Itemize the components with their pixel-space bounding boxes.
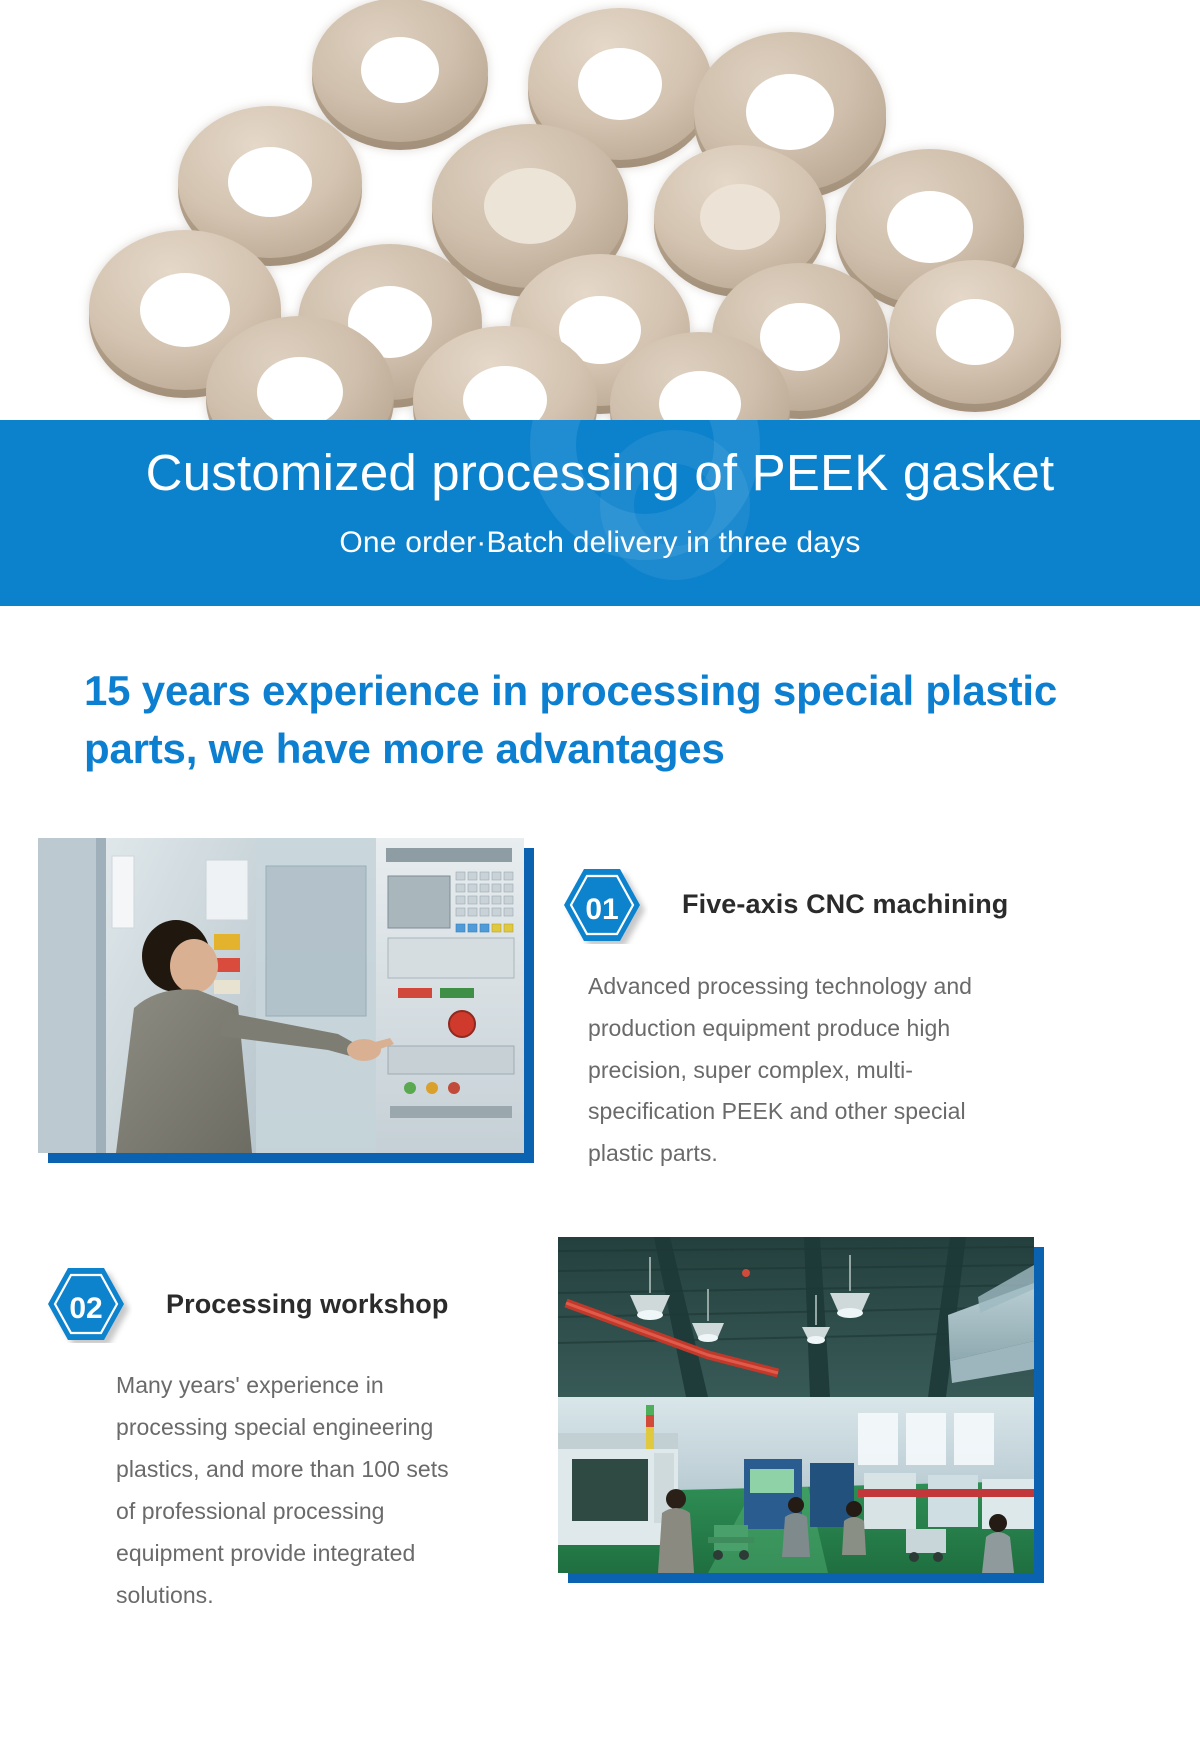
feature-01-text: 01 Five-axis CNC machining Advanced proc… — [524, 838, 1200, 1175]
hexagon-number-badge-icon: 02 — [46, 1265, 132, 1343]
feature-02-title: Processing workshop — [166, 1289, 448, 1320]
hexagon-number-badge-icon: 01 — [562, 866, 648, 944]
hero-banner: Customized processing of PEEK gasket One… — [0, 420, 1200, 606]
peek-gasket-rings-illustration — [0, 0, 1200, 420]
feature-row-01: 01 Five-axis CNC machining Advanced proc… — [0, 838, 1200, 1175]
banner-title: Customized processing of PEEK gasket — [146, 446, 1055, 500]
feature-02-image — [558, 1237, 1034, 1573]
banner-subtitle: One order·Batch delivery in three days — [339, 526, 860, 560]
feature-02-heading-row: 02 Processing workshop — [38, 1265, 536, 1343]
workshop-interior-illustration — [558, 1237, 1034, 1573]
feature-01-body: Advanced processing technology and produ… — [562, 966, 992, 1175]
hexagon-badge-02-number: 02 — [69, 1292, 102, 1325]
cnc-operator-illustration — [38, 838, 524, 1153]
hero-product-image — [0, 0, 1200, 420]
feature-02-photo — [558, 1237, 1034, 1573]
feature-row-02: 02 Processing workshop Many years' exper… — [0, 1237, 1200, 1616]
feature-02-body: Many years' experience in processing spe… — [38, 1365, 458, 1616]
hexagon-badge-01-number: 01 — [585, 893, 618, 926]
product-detail-page: Customized processing of PEEK gasket One… — [0, 0, 1200, 1748]
feature-01-title: Five-axis CNC machining — [682, 889, 1008, 920]
hexagon-badge-02-icon: 02 — [46, 1265, 132, 1343]
hexagon-badge-01-icon: 01 — [562, 866, 648, 944]
feature-01-heading-row: 01 Five-axis CNC machining — [562, 866, 1170, 944]
feature-02-text: 02 Processing workshop Many years' exper… — [38, 1237, 558, 1616]
feature-01-image — [38, 838, 524, 1153]
feature-01-photo — [38, 838, 524, 1153]
section-headline: 15 years experience in processing specia… — [84, 662, 1064, 778]
